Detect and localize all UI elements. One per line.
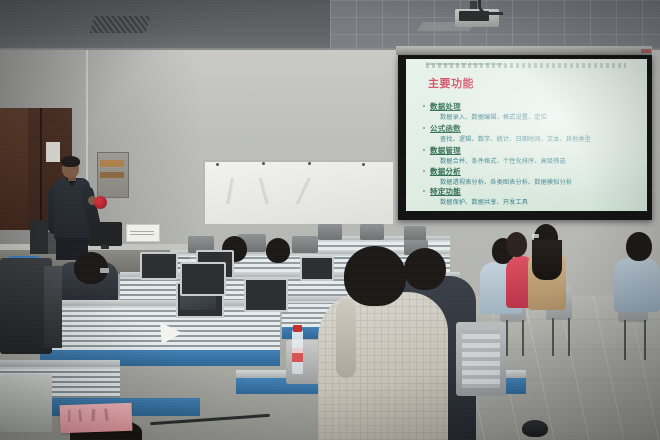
glasses-icon [532,234,539,238]
bottle-label-band [292,348,303,353]
bottle-cap [293,325,302,332]
chair-leg [624,320,626,360]
monitor-back [318,224,342,240]
chair-mesh [462,330,500,388]
projection-screen-rail [396,46,652,55]
lab-monitor [180,262,226,296]
wall-panel-stripe [100,160,124,167]
student-head [344,246,406,306]
glasses-icon [100,268,109,273]
student-head [626,232,652,261]
wall-paper-note [46,142,60,162]
computer-mouse [522,420,548,437]
classroom-photo: Data Management and Analysis with Excel … [0,0,660,440]
cabinet-seam [40,108,42,230]
ceiling-vent-icon [90,16,150,33]
desktop-tower-icon [0,374,52,432]
projector-cable [478,0,503,15]
chair-leg [506,320,508,356]
lab-monitor [244,278,288,312]
whiteboard-scribble [218,178,368,204]
monitor-back [292,236,318,253]
desk-partition [40,306,280,354]
desktop-tower-icon [30,220,48,254]
lab-monitor [140,252,178,280]
presenter-hair [61,156,80,167]
student-hair [532,240,562,280]
lab-monitor [300,256,334,281]
student-head [266,238,290,263]
student-head [506,232,527,257]
pink-desk-label-writing [66,408,124,422]
chair-leg [644,320,646,360]
screen-glare [406,59,647,211]
screen-rail-cap [641,49,651,53]
monitor-stand [101,245,109,249]
monitor-back [404,226,426,241]
nameplate-text-lines [130,229,154,235]
whiteboard-clip [262,162,265,165]
chair-leg [522,320,524,356]
chair-leg [568,318,570,356]
student-arm [336,300,356,378]
whiteboard-clip [216,163,219,166]
wall-panel-stripe [100,172,124,178]
wooden-cabinet-door [0,108,28,230]
student-body [614,258,660,312]
monitor-side [44,266,62,348]
whiteboard-clip [362,163,365,166]
whiteboard-clip [308,162,311,165]
presenter-remote-icon [94,196,107,209]
student-head [404,248,446,290]
chair-leg [552,318,554,356]
monitor-back [360,224,384,240]
